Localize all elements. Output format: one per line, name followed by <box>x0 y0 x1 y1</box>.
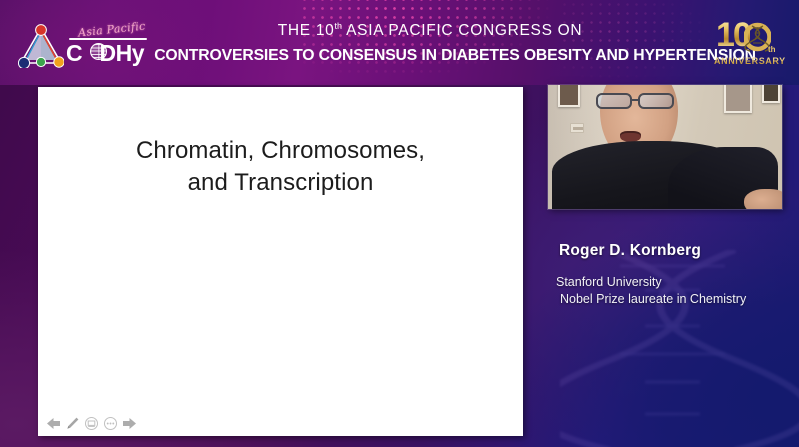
congress-title-pre: THE 10 <box>278 22 335 39</box>
congress-header-banner: Asia Pacific CODHy THE 10th ASIA PACIFIC… <box>0 0 799 85</box>
speaker-affiliation: Stanford University Nobel Prize laureate… <box>556 274 793 308</box>
congress-subtitle: CONTROVERSIES TO CONSENSUS IN DIABETES O… <box>154 48 706 64</box>
codhy-triangle-icon <box>18 24 64 68</box>
more-options-icon[interactable] <box>103 416 117 430</box>
wall-picture-frame <box>558 85 580 107</box>
presentation-slide[interactable]: Chromatin, Chromosomes, and Transcriptio… <box>38 87 523 436</box>
speaker-webcam-feed[interactable] <box>548 85 782 209</box>
presentation-stage: Asia Pacific CODHy THE 10th ASIA PACIFIC… <box>0 0 799 447</box>
eyeglass-lens-left <box>596 93 632 109</box>
codhy-wordmark: Asia Pacific CODHy <box>66 23 150 69</box>
dna-helix-icon <box>744 22 771 52</box>
congress-title-line1: THE 10th ASIA PACIFIC CONGRESS ON <box>150 22 710 39</box>
congress-title-post: ASIA PACIFIC CONGRESS ON <box>342 22 582 39</box>
presenter-toolbar[interactable] <box>42 414 140 432</box>
slide-title: Chromatin, Chromosomes, and Transcriptio… <box>38 135 523 198</box>
speaker-name: Roger D. Kornberg <box>559 242 793 260</box>
wall-picture-frame <box>762 85 780 103</box>
wall-picture-frame <box>724 85 752 113</box>
congress-title-block: THE 10th ASIA PACIFIC CONGRESS ON CONTRO… <box>150 22 710 64</box>
codhy-logo: Asia Pacific CODHy <box>18 22 148 70</box>
eyeglasses-icon <box>596 93 684 109</box>
slide-title-line1: Chromatin, Chromosomes, <box>136 137 425 164</box>
eyeglass-lens-right <box>638 93 674 109</box>
codhy-script-text: Asia Pacific <box>78 19 147 39</box>
next-slide-icon[interactable] <box>122 416 136 430</box>
speaker-info: Roger D. Kornberg Stanford University No… <box>548 242 793 308</box>
globe-icon <box>90 43 107 60</box>
wall-light-switch <box>570 123 584 133</box>
codhy-word-y: y <box>132 40 144 66</box>
speaker-hand <box>744 189 782 209</box>
slide-title-line2: and Transcription <box>38 167 523 199</box>
speaker-affiliation-line2: Nobel Prize laureate in Chemistry <box>560 291 793 308</box>
speaker-affiliation-line1: Stanford University <box>556 275 662 289</box>
ordinal-suffix: th <box>334 21 342 31</box>
anniversary-ordinal: th <box>768 45 776 54</box>
anniversary-logo: 10 th ANNIVERSARY <box>712 18 790 74</box>
pen-icon[interactable] <box>65 416 79 430</box>
previous-slide-icon[interactable] <box>46 416 60 430</box>
slide-thumbnails-icon[interactable] <box>84 416 98 430</box>
codhy-word-c: C <box>66 40 82 66</box>
anniversary-label: ANNIVERSARY <box>714 56 786 66</box>
